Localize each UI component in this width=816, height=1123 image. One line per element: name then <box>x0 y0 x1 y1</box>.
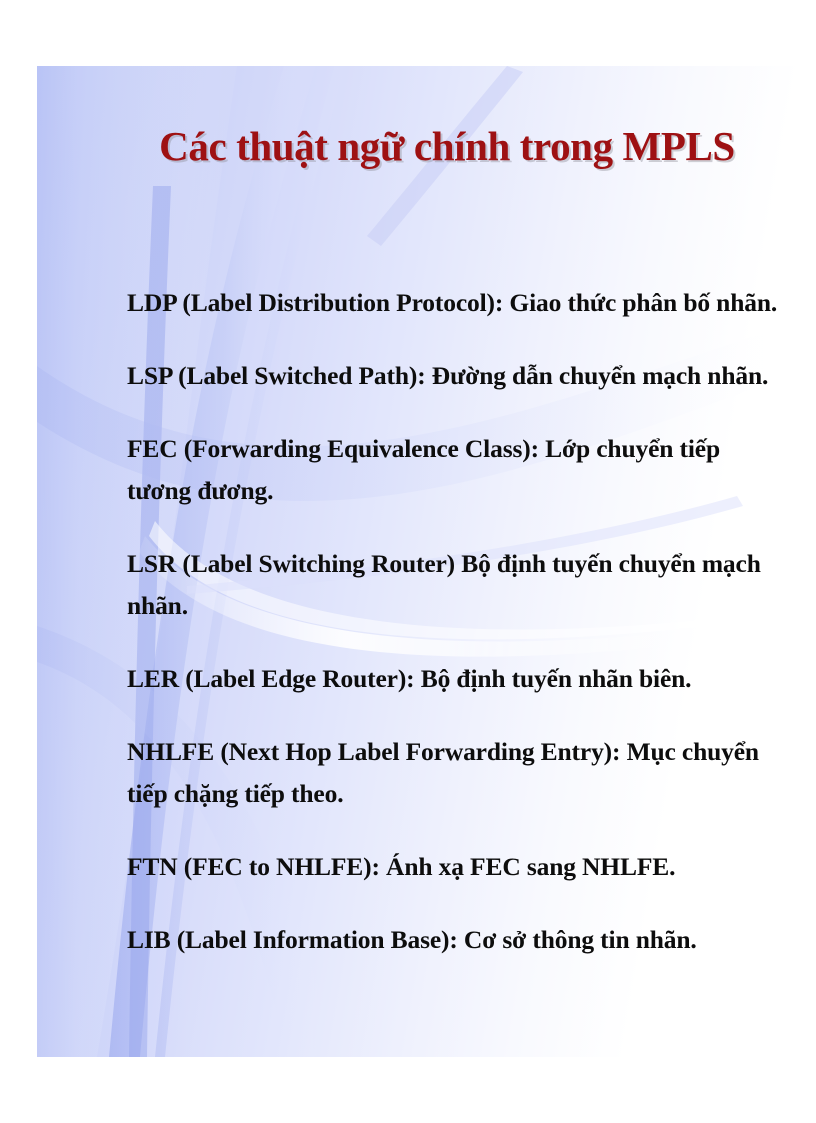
list-item: FTN (FEC to NHLFE): Ánh xạ FEC sang NHLF… <box>127 846 787 888</box>
slide-canvas: Các thuật ngữ chính trong MPLS LDP (Labe… <box>37 66 816 1057</box>
list-item: LDP (Label Distribution Protocol): Giao … <box>127 282 787 324</box>
list-item: LER (Label Edge Router): Bộ định tuyến n… <box>127 658 787 700</box>
list-item: LSR (Label Switching Router) Bộ định tuy… <box>127 543 787 627</box>
list-item: LSP (Label Switched Path): Đường dẫn chu… <box>127 355 787 397</box>
list-item: NHLFE (Next Hop Label Forwarding Entry):… <box>127 731 787 815</box>
list-item: FEC (Forwarding Equivalence Class): Lớp … <box>127 428 787 512</box>
list-item: LIB (Label Information Base): Cơ sở thôn… <box>127 919 787 961</box>
terms-list: LDP (Label Distribution Protocol): Giao … <box>127 282 787 961</box>
page-title: Các thuật ngữ chính trong MPLS <box>127 123 767 169</box>
